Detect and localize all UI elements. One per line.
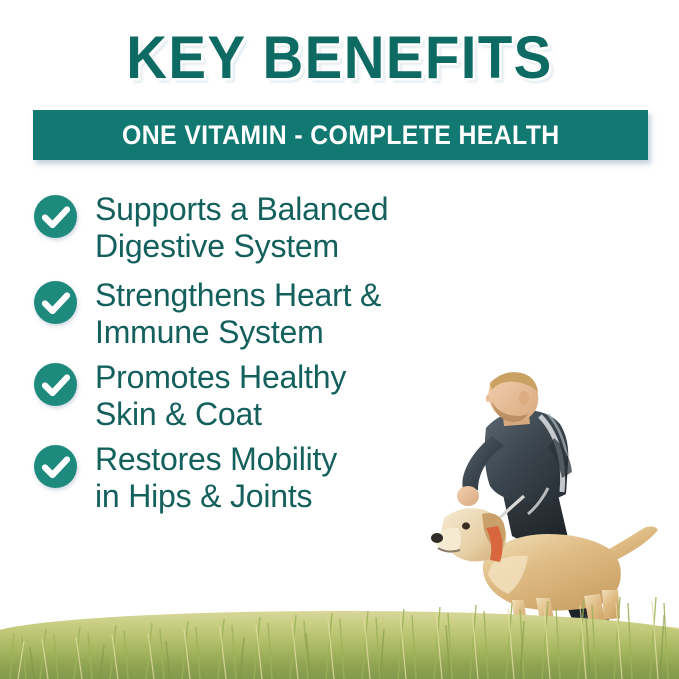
benefit-text: Promotes Healthy Skin & Coat: [95, 359, 346, 433]
benefit-item: Strengthens Heart & Immune System: [33, 277, 503, 351]
grass-blades: [0, 589, 679, 679]
benefits-list: Supports a Balanced Digestive System Str…: [33, 191, 503, 525]
benefit-line-2: in Hips & Joints: [95, 478, 337, 515]
benefit-line-1: Restores Mobility: [95, 441, 337, 478]
check-circle-icon: [33, 194, 78, 239]
benefit-line-1: Strengthens Heart &: [95, 277, 381, 314]
benefit-line-1: Supports a Balanced: [95, 191, 388, 228]
subtitle-banner: ONE VITAMIN - COMPLETE HEALTH: [33, 110, 648, 160]
benefit-line-1: Promotes Healthy: [95, 359, 346, 396]
benefit-line-2: Skin & Coat: [95, 396, 346, 433]
benefit-item: Promotes Healthy Skin & Coat: [33, 359, 503, 433]
check-circle-icon: [33, 280, 78, 325]
subtitle-banner-text: ONE VITAMIN - COMPLETE HEALTH: [122, 120, 560, 151]
benefit-line-2: Immune System: [95, 314, 381, 351]
benefit-text: Supports a Balanced Digestive System: [95, 191, 388, 265]
benefit-item: Supports a Balanced Digestive System: [33, 191, 503, 265]
page-title: KEY BENEFITS: [20, 26, 658, 90]
benefit-text: Strengthens Heart & Immune System: [95, 277, 381, 351]
check-circle-icon: [33, 444, 78, 489]
benefit-line-2: Digestive System: [95, 228, 388, 265]
key-benefits-poster: KEY BENEFITS ONE VITAMIN - COMPLETE HEAL…: [0, 0, 679, 679]
benefit-text: Restores Mobility in Hips & Joints: [95, 441, 337, 515]
check-circle-icon: [33, 362, 78, 407]
benefit-item: Restores Mobility in Hips & Joints: [33, 441, 503, 515]
grass-field: [0, 589, 679, 679]
